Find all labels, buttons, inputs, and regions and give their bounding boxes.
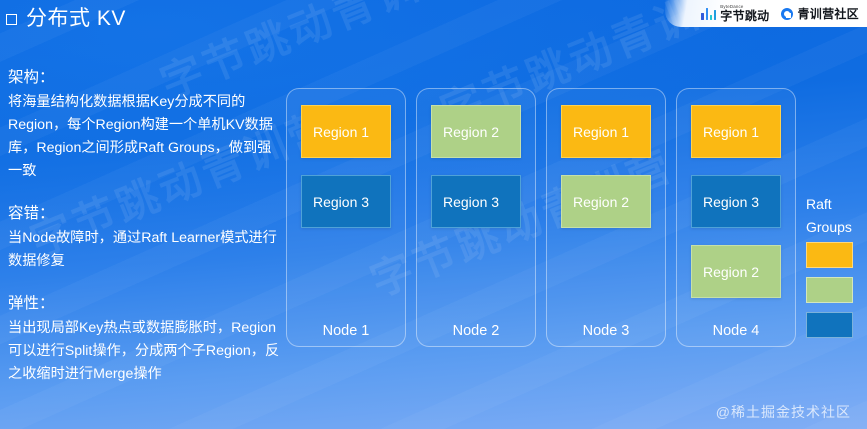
region-list: Region 1 Region 3 Region 2 <box>691 105 781 315</box>
region-box: Region 2 <box>561 175 651 228</box>
legend-title-line1: Raft <box>806 196 864 213</box>
node-label: Node 2 <box>417 322 535 340</box>
region-box: Region 3 <box>431 175 521 228</box>
footer-watermark: @稀土掘金技术社区 <box>716 403 851 421</box>
text-section: 容错： 当Node故障时，通过Raft Learner模式进行数据修复 <box>8 202 280 273</box>
page-title: 分布式 KV <box>26 7 126 31</box>
text-section: 弹性： 当出现局部Key热点或数据膨胀时，Region可以进行Split操作，分… <box>8 292 280 386</box>
section-heading: 弹性： <box>8 292 280 316</box>
section-heading: 架构： <box>8 66 280 90</box>
node-card: Region 1 Region 3 Region 2 Node 4 <box>676 88 796 347</box>
region-box: Region 2 <box>431 105 521 158</box>
node-label: Node 4 <box>677 322 795 340</box>
legend: Raft Groups <box>806 196 864 347</box>
brand-qingxunying: 青训营社区 <box>781 5 859 22</box>
section-body: 当Node故障时，通过Raft Learner模式进行数据修复 <box>8 227 280 273</box>
region-box: Region 3 <box>301 175 391 228</box>
brand-bytedance: ByteDance 字节跳动 <box>701 5 769 22</box>
region-box: Region 3 <box>691 175 781 228</box>
node-card: Region 1 Region 2 Node 3 <box>546 88 666 347</box>
region-box: Region 2 <box>691 245 781 298</box>
qingxunying-cn-label: 青训营社区 <box>797 5 859 22</box>
region-list: Region 1 Region 2 <box>561 105 651 245</box>
section-body: 将海量结构化数据根据Key分成不同的Region，每个Region构建一个单机K… <box>8 91 280 183</box>
bytedance-bars-icon <box>701 7 716 20</box>
bytedance-cn-label: 字节跳动 <box>720 10 769 22</box>
node-label: Node 1 <box>287 322 405 340</box>
brand-bar: ByteDance 字节跳动 青训营社区 <box>665 0 867 27</box>
region-box: Region 1 <box>691 105 781 158</box>
region-list: Region 1 Region 3 <box>301 105 391 245</box>
legend-swatch-blue <box>806 312 853 338</box>
section-body: 当出现局部Key热点或数据膨胀时，Region可以进行Split操作，分成两个子… <box>8 317 280 386</box>
left-text-panel: 架构： 将海量结构化数据根据Key分成不同的Region，每个Region构建一… <box>8 66 280 386</box>
node-label: Node 3 <box>547 322 665 340</box>
node-card: Region 2 Region 3 Node 2 <box>416 88 536 347</box>
region-box: Region 1 <box>301 105 391 158</box>
node-card: Region 1 Region 3 Node 1 <box>286 88 406 347</box>
slide-canvas: 字节跳动青训营 字节跳动青训营 字节跳动青训营 字节跳动青训营 分布式 KV B… <box>0 0 867 429</box>
legend-swatch-green <box>806 277 853 303</box>
region-box: Region 1 <box>561 105 651 158</box>
node-diagram: Region 1 Region 3 Node 1 Region 2 Region… <box>286 88 811 348</box>
legend-title-line2: Groups <box>806 219 864 236</box>
section-heading: 容错： <box>8 202 280 226</box>
text-section: 架构： 将海量结构化数据根据Key分成不同的Region，每个Region构建一… <box>8 66 280 183</box>
legend-swatch-orange <box>806 242 853 268</box>
region-list: Region 2 Region 3 <box>431 105 521 245</box>
bytedance-wordmark: ByteDance 字节跳动 <box>720 5 769 22</box>
square-bullet-icon <box>6 14 17 25</box>
ring-icon <box>781 8 793 20</box>
